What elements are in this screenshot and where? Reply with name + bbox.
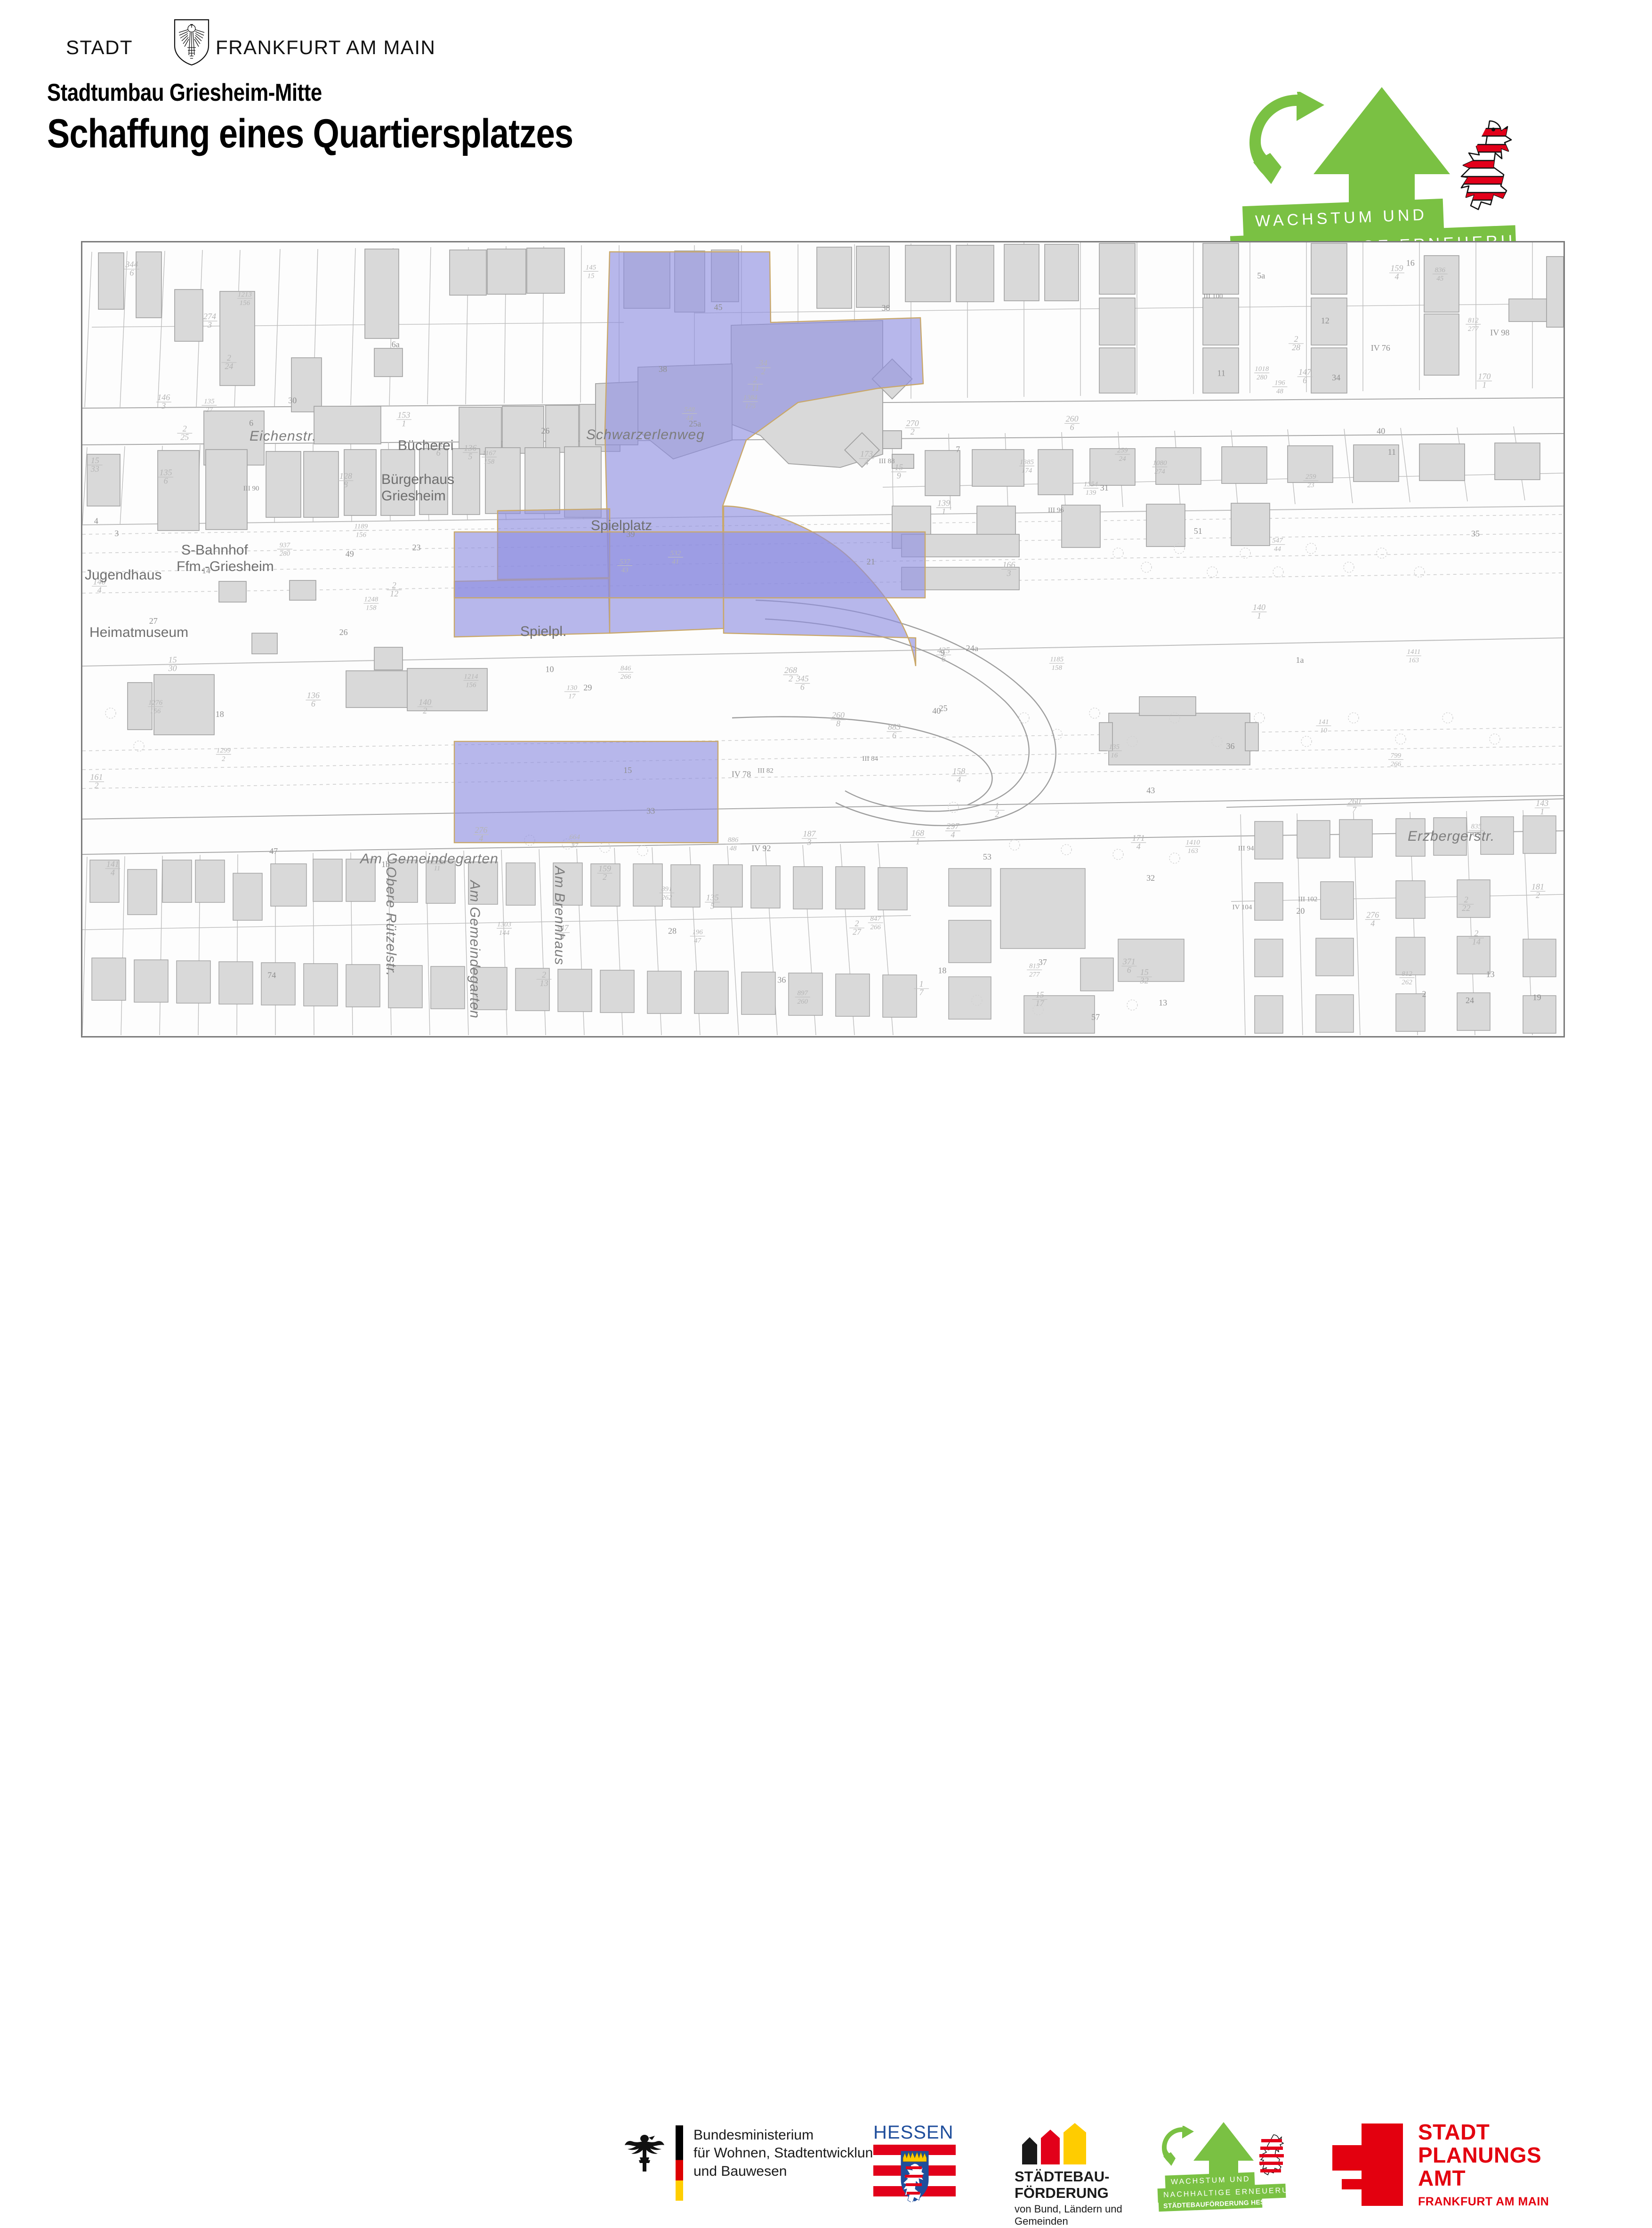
parcel-number: 12 <box>995 801 999 819</box>
parcel-number: 15 <box>623 765 632 775</box>
parcel-number: III 90 <box>243 485 259 492</box>
wachstum-small-logo: WACHSTUM UND NACHHALTIGE ERNEUERUNG STÄD… <box>1156 2122 1311 2212</box>
parcel-number: 49 <box>346 549 354 559</box>
parcel-number: 13 <box>1486 970 1495 979</box>
parcel-number: 1530 <box>168 655 177 673</box>
parcel-number: 23 <box>412 543 421 552</box>
staedtebau-sub1: von Bund, Ländern und <box>1015 2203 1122 2215</box>
parcel-number: 24 <box>1466 996 1474 1005</box>
parcel-number: 16 <box>1406 258 1415 267</box>
parcel-number: 4 <box>94 516 98 526</box>
parcel-number: 1517 <box>1036 990 1045 1008</box>
parcel-number: 74 <box>267 971 276 980</box>
parcel-number: IV 104 <box>1233 904 1252 911</box>
frankfurt-eagle-crest-icon <box>173 18 210 65</box>
street-label-schwarzerlenweg: Schwarzerlenweg <box>586 427 705 443</box>
three-houses-icon <box>1018 2123 1089 2164</box>
spa-line2: PLANUNGS <box>1418 2144 1541 2167</box>
parcel-number: 57 <box>1091 1012 1100 1022</box>
parcel-number: 25 <box>939 703 948 713</box>
parcel-number: IV 76 <box>1371 343 1390 353</box>
poi-label-spielplatz: Spielplatz <box>591 518 652 534</box>
parcel-number: 26 <box>541 426 549 435</box>
poi-label-buergerhaus: Bürgerhaus <box>381 472 454 488</box>
poi-label-ffm-griesheim: Ffm.-Griesheim <box>177 559 274 575</box>
parcel-number: 35 <box>1471 529 1480 538</box>
page-header: STADT FRANKFURT AM MAIN Stadtumbau Gries… <box>0 0 1652 235</box>
parcel-number: 7 <box>956 445 960 454</box>
parcel-number: 6 <box>249 418 253 427</box>
cadastral-map[interactable]: 1366135513516135613527136111365130172424… <box>81 241 1565 1038</box>
parcel-number: 28 <box>668 926 677 936</box>
staedtebau-line1: STÄDTEBAU- <box>1015 2168 1110 2185</box>
parcel-number: 26 <box>339 627 348 637</box>
parcel-number: 31 <box>1100 483 1109 492</box>
parcel-number: 53 <box>983 852 991 861</box>
poi-label-jugendhaus: Jugendhaus <box>85 567 161 583</box>
parcel-number: III 100 <box>1203 293 1223 300</box>
page-footer: Bundesministerium für Wohnen, Stadtentwi… <box>0 1054 1652 1167</box>
spa-line3: AMT <box>1418 2167 1541 2190</box>
parcel-number: 38 <box>882 303 890 313</box>
parcel-number: 1533 <box>90 456 99 474</box>
hessen-lion-icon <box>1444 115 1520 219</box>
street-label-am-gemeindegarten-vertical: Am Gemeindegarten <box>467 880 483 1019</box>
bundesministerium-text: Bundesministerium für Wohnen, Stadtentwi… <box>693 2126 881 2180</box>
parcel-number: 20 <box>1296 906 1305 916</box>
parcel-number: III 102 <box>1298 895 1317 903</box>
parcel-number: 11 <box>1388 447 1396 457</box>
street-label-am-brennhaus: Am Brennhaus <box>551 866 567 965</box>
stadtplanungsamt-mark-icon <box>1332 2123 1403 2206</box>
parcel-number: 18 <box>938 966 946 975</box>
parcel-number: IV 98 <box>1490 328 1509 337</box>
parcel-number: 47 <box>269 846 278 856</box>
parcel-number: 34 <box>1332 373 1340 382</box>
parcel-number: 9 <box>941 648 945 658</box>
bundesadler-icon <box>624 2130 665 2175</box>
parcel-number: 38 <box>659 364 667 374</box>
parcel-number: III 84 <box>862 755 878 763</box>
street-label-obere-ruetzelstr: Obere Rützelstr. <box>383 867 399 976</box>
poi-label-heimatmuseum: Heimatmuseum <box>89 625 188 641</box>
hessen-lion-icon-small <box>1253 2132 1287 2180</box>
parcel-number: 13 <box>1159 998 1167 1007</box>
parcel-number: IV 92 <box>751 844 771 853</box>
street-label-erzbergerstr: Erzbergerstr. <box>1408 828 1495 845</box>
map-canvas: 1366135513516135613527136111365130172424… <box>82 242 1563 1036</box>
poi-label-s-bahnhof: S-Bahnhof <box>181 542 248 558</box>
page-title: Schaffung eines Quartiersplatzes <box>47 113 573 155</box>
stadtplanungsamt-sub: FRANKFURT AM MAIN <box>1418 2195 1549 2209</box>
staedtebau-sub2: Gemeinden <box>1015 2215 1122 2228</box>
parcel-number: IV 78 <box>732 770 751 779</box>
parcel-number: 1532 <box>1140 967 1149 985</box>
parcel-number: III 94 <box>1238 845 1254 852</box>
parcel-number: 45 <box>714 302 723 312</box>
parcel-number: III 82 <box>758 767 774 775</box>
poi-label-spielpl: Spielpl. <box>520 624 566 640</box>
staedtebau-subtext: von Bund, Ländern und Gemeinden <box>1015 2203 1122 2228</box>
parcel-number: 36 <box>1226 741 1235 751</box>
staedtebau-text: STÄDTEBAU- FÖRDERUNG <box>1015 2168 1110 2202</box>
poi-label-buecherei: Bücherei <box>398 438 453 454</box>
poi-label-griesheim: Griesheim <box>381 488 446 504</box>
parcel-number: 51 <box>1194 526 1202 536</box>
parcel-number: 17 <box>919 979 924 997</box>
parcel-number: 18 <box>216 709 224 719</box>
page-subtitle: Stadtumbau Griesheim-Mitte <box>47 80 573 106</box>
city-logo: STADT FRANKFURT AM MAIN <box>66 26 367 66</box>
parcel-number: 6a <box>392 340 400 349</box>
parcel-number: 19 <box>1533 992 1541 1002</box>
parcel-number: 12 <box>1321 316 1330 325</box>
city-logo-text-left: STADT <box>66 36 133 59</box>
parcel-number: 1a <box>1296 655 1304 665</box>
parcel-number: 43 <box>1146 786 1155 795</box>
bundesministerium-line3: und Bauwesen <box>693 2163 881 2180</box>
parcel-number: 5a <box>1257 271 1265 281</box>
parcel-number: III 96 <box>1048 507 1064 514</box>
parcel-number: 10 <box>546 664 554 674</box>
parcel-number: III 88 <box>879 458 895 465</box>
title-block: Stadtumbau Griesheim-Mitte Schaffung ein… <box>47 80 673 155</box>
parcel-number: 11 <box>1217 369 1225 378</box>
parcel-number: 2 <box>1422 989 1426 999</box>
bundesministerium-line2: für Wohnen, Stadtentwicklung <box>693 2144 881 2162</box>
bundesministerium-line1: Bundesministerium <box>693 2126 881 2144</box>
parcel-number: 33 <box>646 806 655 816</box>
hessen-name: HESSEN <box>873 2122 954 2143</box>
parcel-number: 21 <box>867 557 875 566</box>
parcel-number: 37 <box>1039 957 1047 967</box>
parcel-number: 3 <box>114 529 119 538</box>
parcel-number: 40 <box>1377 426 1385 435</box>
spa-line1: STADT <box>1418 2121 1541 2144</box>
parcel-number: 32 <box>1146 873 1155 883</box>
hessen-lion-shield-icon <box>900 2149 929 2202</box>
street-label-am-gemeindegarten: Am Gemeindegarten <box>360 851 499 867</box>
parcel-number: 29 <box>583 683 592 692</box>
stadtplanungsamt-title: STADT PLANUNGS AMT <box>1418 2121 1541 2190</box>
hessen-logo: HESSEN <box>873 2122 956 2207</box>
staedtebau-line2: FÖRDERUNG <box>1015 2185 1110 2201</box>
parcel-number: 30 <box>288 395 297 405</box>
parcel-number: 36 <box>777 975 786 984</box>
parcel-number: 24a <box>966 643 978 653</box>
street-label-eichenstr: Eichenstr. <box>250 428 316 444</box>
german-flag-bar-icon <box>676 2125 683 2201</box>
city-logo-text-right: FRANKFURT AM MAIN <box>216 36 435 59</box>
